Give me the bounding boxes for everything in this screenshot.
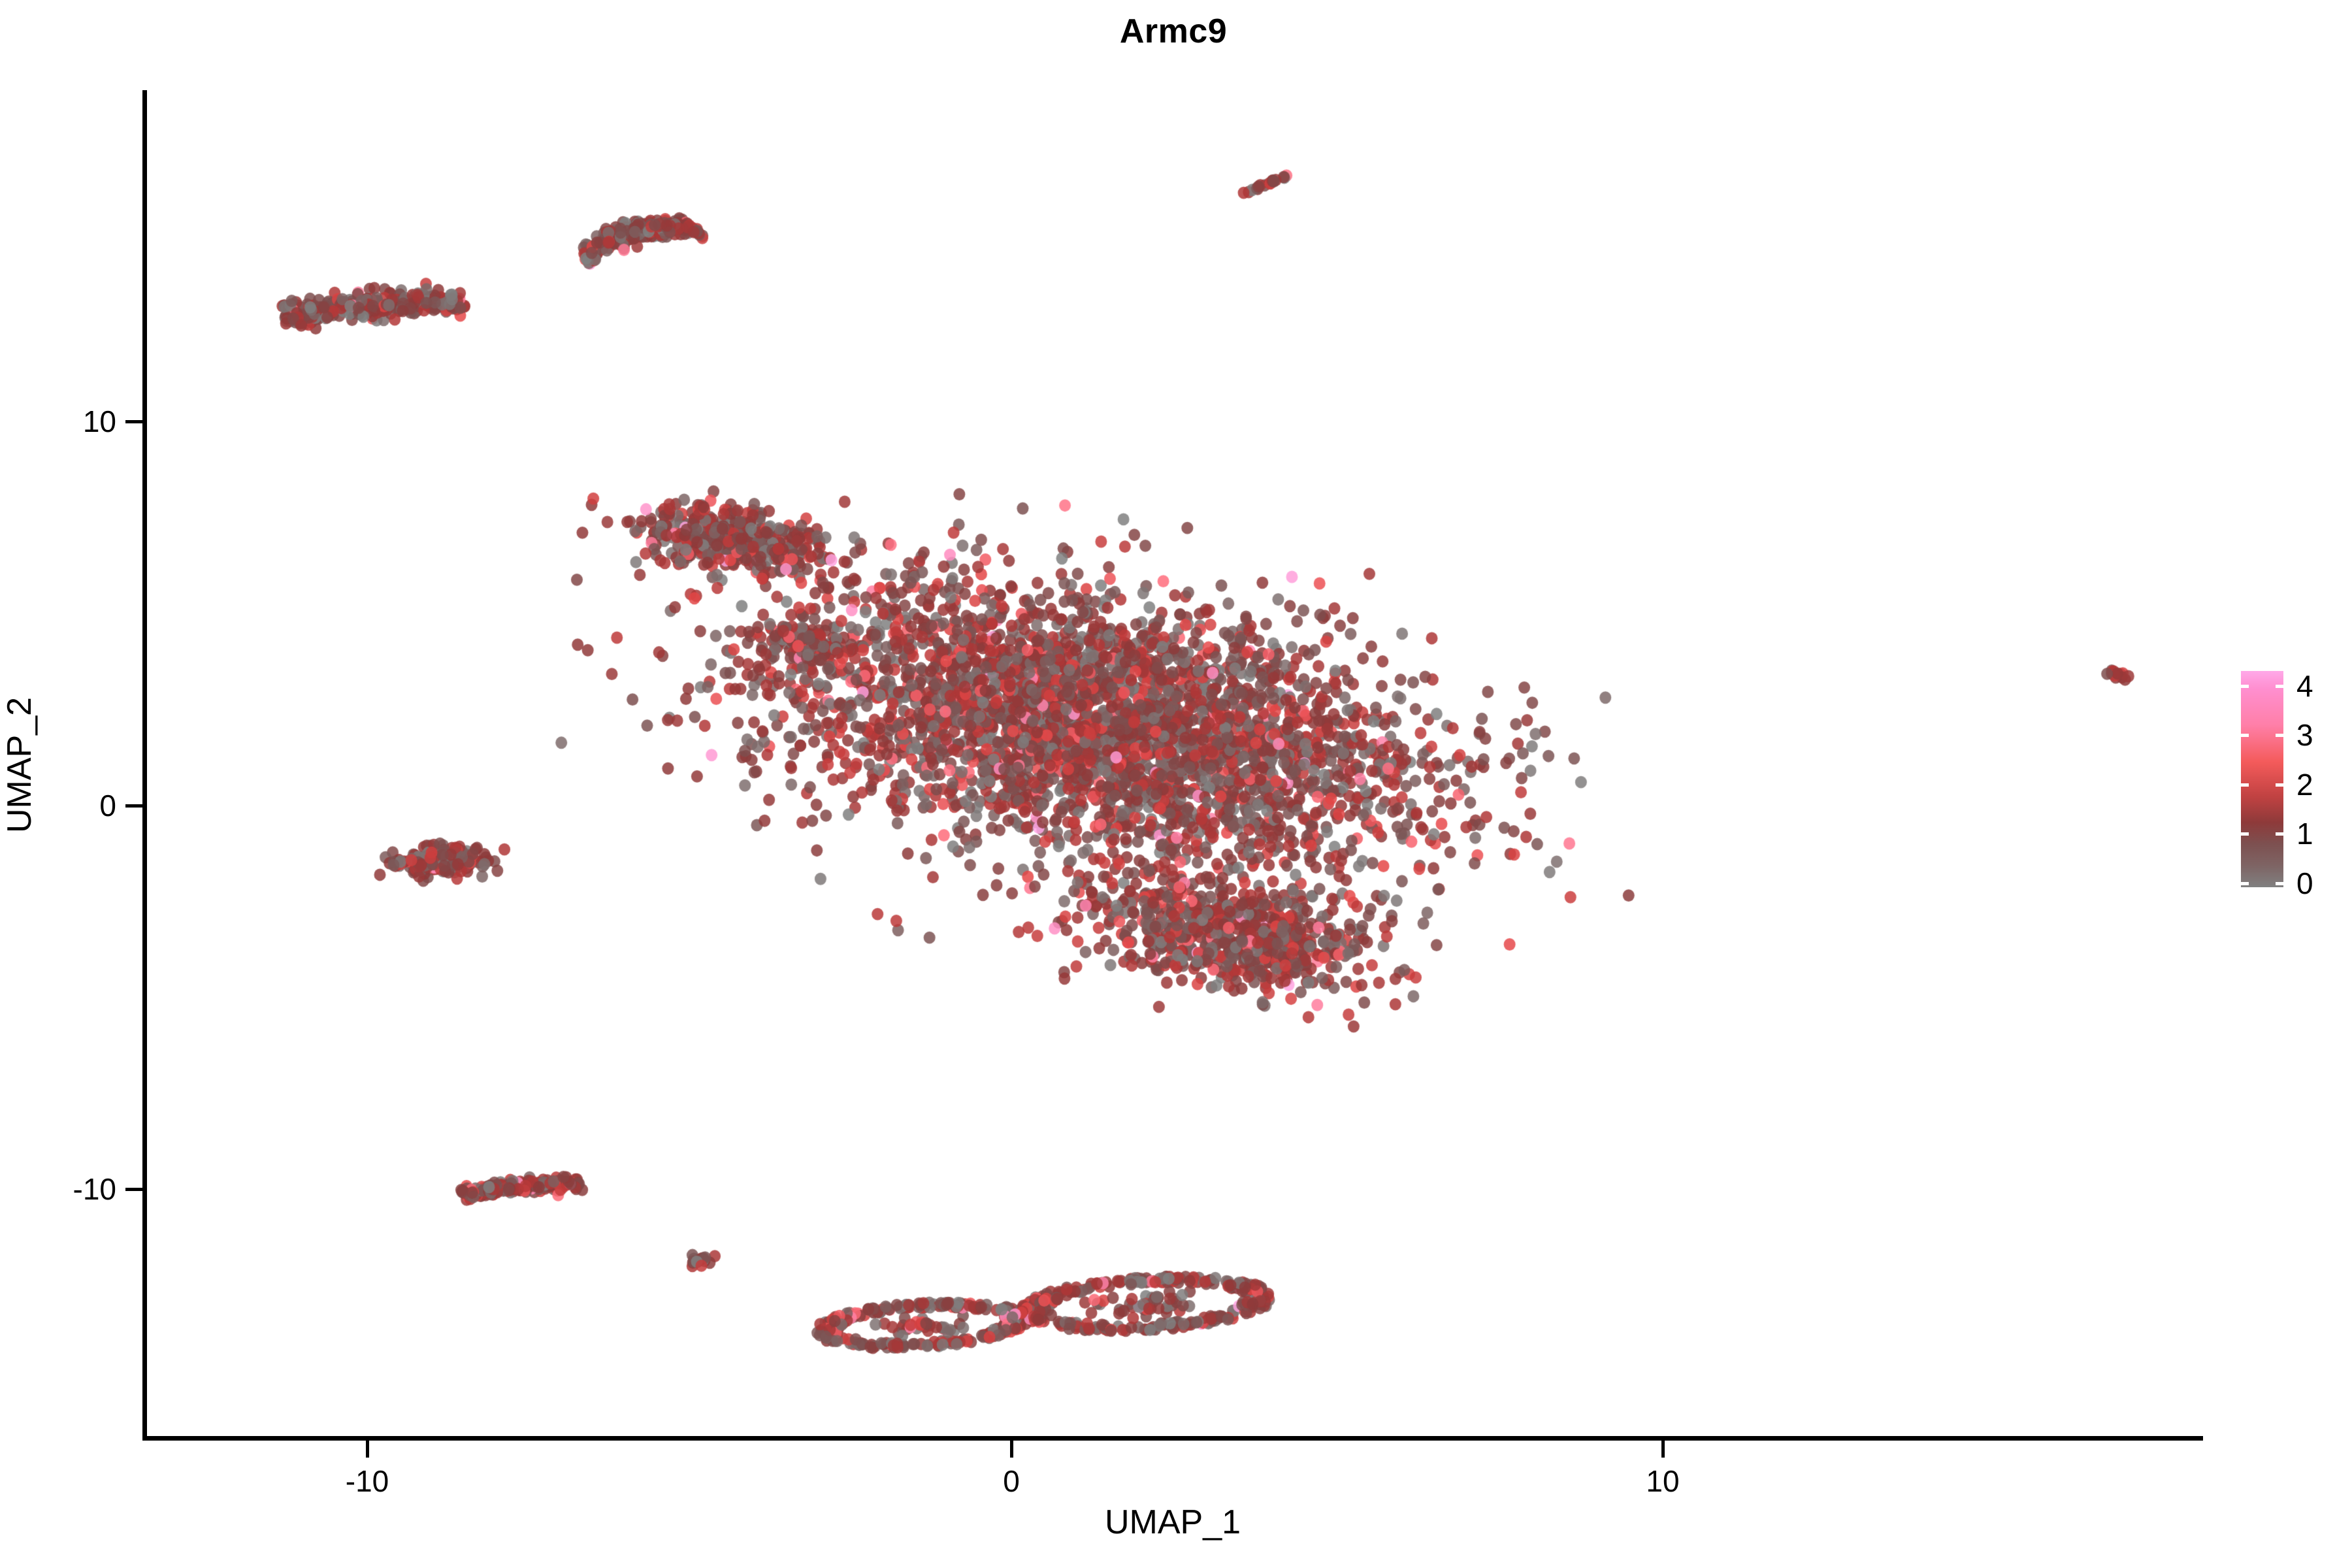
scatter-points-canvas bbox=[147, 65, 2203, 1436]
colorbar-label-1: 1 bbox=[2296, 816, 2313, 851]
x-tick-0 bbox=[1010, 1441, 1013, 1458]
y-ticklabel-10: 10 bbox=[83, 404, 116, 439]
x-tick-10 bbox=[1661, 1441, 1665, 1458]
colorbar-tick-2-right bbox=[2276, 783, 2283, 787]
y-tick-minus10 bbox=[125, 1188, 142, 1191]
y-tick-10 bbox=[125, 420, 142, 423]
y-ticklabel-0: 0 bbox=[99, 788, 116, 823]
colorbar-tick-3-left bbox=[2241, 734, 2249, 737]
page-title: Armc9 bbox=[144, 12, 2203, 51]
colorbar-label-2: 2 bbox=[2296, 767, 2313, 802]
x-tick-minus10 bbox=[366, 1441, 369, 1458]
y-axis-line bbox=[142, 90, 147, 1440]
colorbar-tick-4-left bbox=[2241, 685, 2249, 688]
x-ticklabel-10: 10 bbox=[1646, 1463, 1679, 1499]
colorbar-tick-1-right bbox=[2276, 832, 2283, 836]
plot-title-container: Armc9 bbox=[144, 12, 2203, 51]
colorbar-legend: 4 3 2 1 0 bbox=[2241, 666, 2339, 892]
colorbar-label-3: 3 bbox=[2296, 717, 2313, 753]
colorbar-tick-4-right bbox=[2276, 685, 2283, 688]
colorbar-tick-1-left bbox=[2241, 832, 2249, 836]
x-axis-line bbox=[142, 1436, 2203, 1441]
y-axis-title: UMAP_2 bbox=[0, 697, 39, 833]
colorbar-tick-2-left bbox=[2241, 783, 2249, 787]
colorbar-tick-3-right bbox=[2276, 734, 2283, 737]
colorbar-gradient bbox=[2241, 671, 2283, 887]
x-ticklabel-0: 0 bbox=[1003, 1463, 1020, 1499]
y-tick-0 bbox=[125, 804, 142, 808]
colorbar-label-4: 4 bbox=[2296, 668, 2313, 704]
colorbar-tick-0-left bbox=[2241, 882, 2249, 885]
plot-panel bbox=[147, 65, 2203, 1436]
colorbar-tick-0-right bbox=[2276, 882, 2283, 885]
colorbar-label-0: 0 bbox=[2296, 866, 2313, 901]
x-axis-title: UMAP_1 bbox=[142, 1503, 2203, 1542]
y-ticklabel-minus10: -10 bbox=[73, 1171, 116, 1207]
x-ticklabel-minus10: -10 bbox=[346, 1463, 389, 1499]
umap-feature-plot: Armc9 -10 0 10 10 0 -10 UMAP_1 UMAP_2 4 … bbox=[0, 0, 2352, 1568]
